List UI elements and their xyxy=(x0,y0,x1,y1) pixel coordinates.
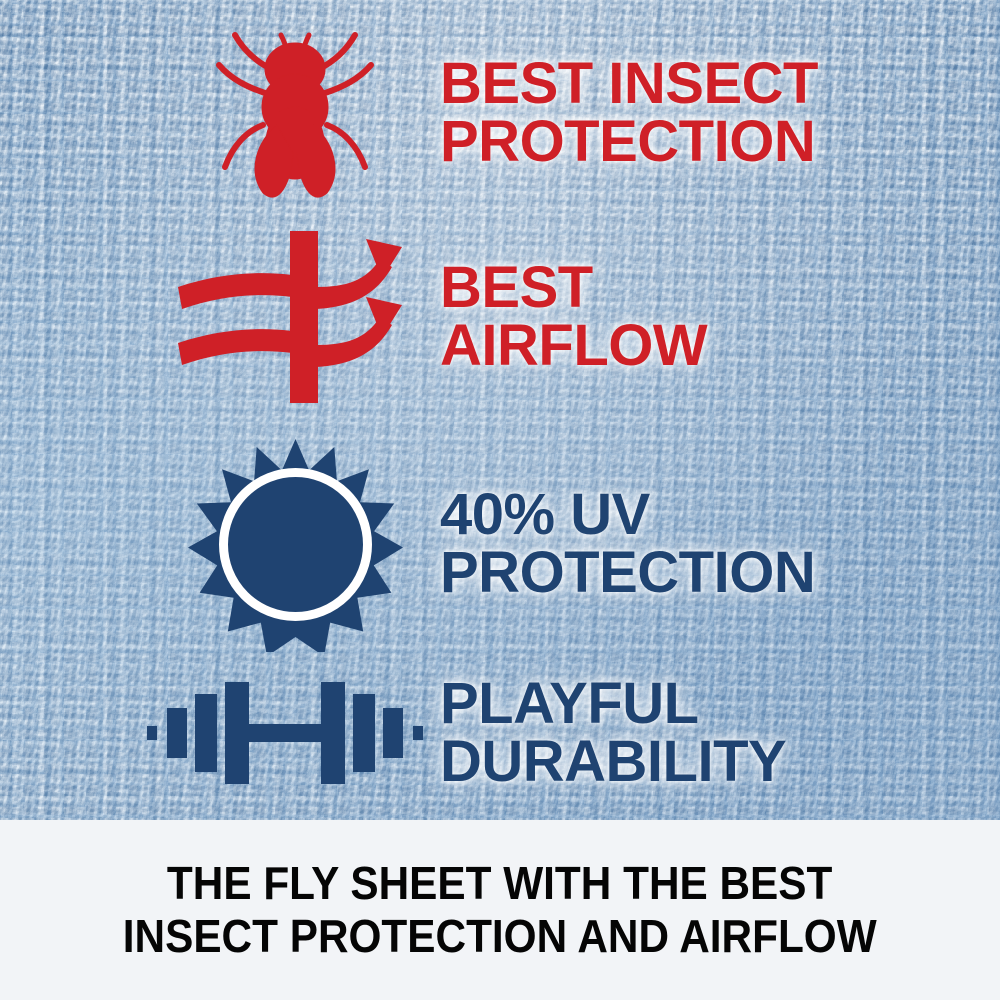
feature-row-durability: PLAYFUL DURABILITY xyxy=(130,648,1000,818)
feature-line-1: BEST INSECT xyxy=(440,55,1000,113)
feature-line-1: 40% UV xyxy=(440,486,1000,544)
durability-text: PLAYFUL DURABILITY xyxy=(440,675,1000,791)
feature-line-2: PROTECTION xyxy=(440,544,1000,602)
feature-row-uv-protection: 40% UV PROTECTION xyxy=(150,434,1000,654)
sun-uv-icon xyxy=(188,437,403,652)
caption-line-1: THE FLY SHEET WITH THE BEST xyxy=(167,857,832,910)
insect-protection-text: BEST INSECT PROTECTION xyxy=(440,55,1000,171)
feature-line-2: DURABILITY xyxy=(440,733,1000,791)
dumbbell-icon-cell xyxy=(130,658,440,808)
caption-line-2: INSECT PROTECTION AND AIRFLOW xyxy=(123,910,877,963)
product-feature-infographic: BEST INSECT PROTECTION xyxy=(0,0,1000,1000)
feature-line-1: BEST xyxy=(440,259,1000,317)
sun-uv-icon-cell xyxy=(150,437,440,652)
fly-icon xyxy=(205,21,385,206)
feature-line-2: PROTECTION xyxy=(440,113,1000,171)
airflow-icon-cell xyxy=(150,225,440,410)
airflow-text: BEST AIRFLOW xyxy=(440,259,1000,375)
airflow-icon xyxy=(170,225,420,410)
feature-row-insect-protection: BEST INSECT PROTECTION xyxy=(150,18,1000,208)
feature-line-1: PLAYFUL xyxy=(440,675,1000,733)
feature-row-airflow: BEST AIRFLOW xyxy=(150,222,1000,412)
feature-line-2: AIRFLOW xyxy=(440,317,1000,375)
fly-icon-cell xyxy=(150,21,440,206)
uv-protection-text: 40% UV PROTECTION xyxy=(440,486,1000,602)
bottom-caption-bar: THE FLY SHEET WITH THE BEST INSECT PROTE… xyxy=(0,820,1000,1000)
dumbbell-icon xyxy=(145,668,425,798)
